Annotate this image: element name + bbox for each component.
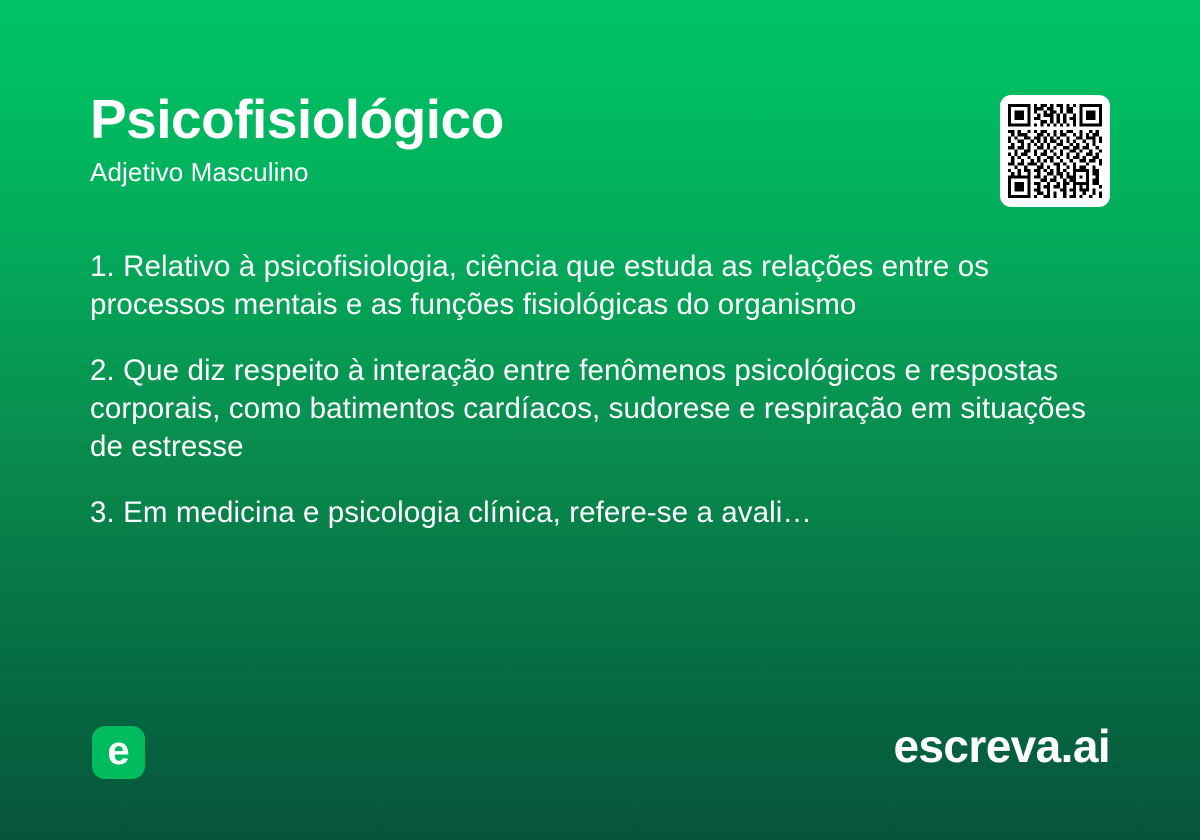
qr-code-card[interactable] bbox=[1000, 95, 1110, 207]
word-class-label: Adjetivo Masculino bbox=[90, 156, 970, 188]
escreva-logo-badge: e bbox=[92, 726, 145, 779]
logo-letter-e: e bbox=[107, 731, 129, 771]
definition-item-3: 3. Em medicina e psicologia clínica, ref… bbox=[90, 494, 1100, 532]
definition-item-1: 1. Relativo à psicofisiologia, ciência q… bbox=[90, 248, 1100, 324]
definition-list: 1. Relativo à psicofisiologia, ciência q… bbox=[90, 248, 1100, 532]
card-header: Psicofisiológico Adjetivo Masculino bbox=[90, 88, 970, 188]
dictionary-card: Psicofisiológico Adjetivo Masculino bbox=[0, 0, 1200, 840]
definition-item-2: 2. Que diz respeito à interação entre fe… bbox=[90, 352, 1100, 466]
brand-wordmark: escreva.ai bbox=[893, 718, 1110, 774]
qr-code-icon bbox=[1008, 103, 1102, 199]
page-title: Psicofisiológico bbox=[90, 88, 970, 150]
